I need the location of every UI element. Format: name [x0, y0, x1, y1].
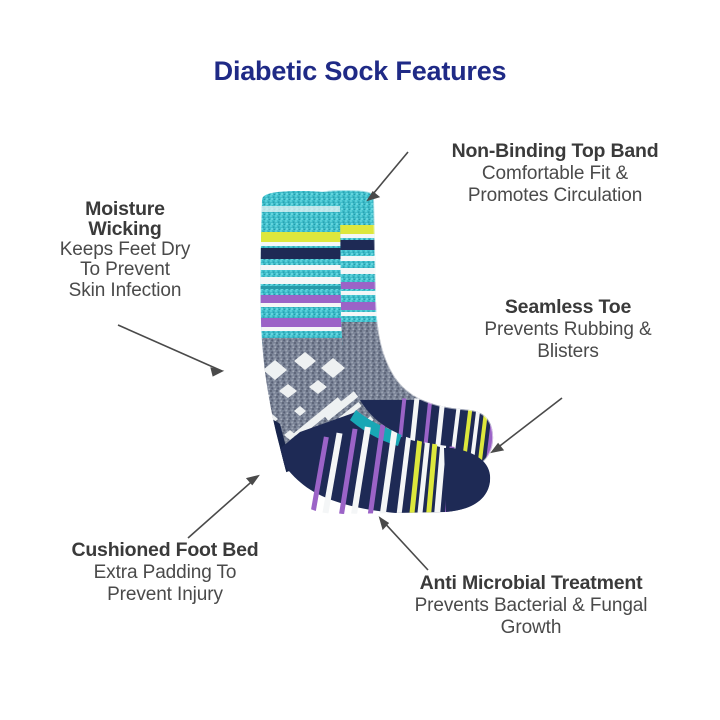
callout-line: Blisters	[444, 341, 692, 363]
arrow-head-antimicrobial	[380, 518, 388, 529]
arrow-head-moisture	[211, 368, 222, 375]
callout-line: Promotes Circulation	[412, 185, 698, 207]
callout-heading: Moisture	[14, 200, 236, 220]
callout-heading: Wicking	[14, 220, 236, 240]
arrow-line-moisture	[118, 325, 222, 371]
callout-line: Extra Padding To	[20, 562, 310, 584]
callout-moisture-wicking: Moisture Wicking Keeps Feet Dry To Preve…	[14, 200, 236, 301]
arrow-line-antimicrobial	[380, 518, 428, 570]
callout-line: Keeps Feet Dry	[14, 240, 236, 261]
callout-heading: Non-Binding Top Band	[412, 141, 698, 163]
callout-line: Growth	[372, 617, 690, 639]
callout-heading: Cushioned Foot Bed	[20, 540, 310, 562]
arrow-line-top-band	[368, 152, 408, 200]
arrow-head-cushion	[247, 476, 258, 484]
callout-line: Skin Infection	[14, 281, 236, 302]
illustration-canvas: Diabetic Sock Features	[0, 0, 720, 720]
arrow-line-seamless	[492, 398, 562, 452]
callout-line: Prevents Rubbing &	[444, 319, 692, 341]
callout-line: To Prevent	[14, 260, 236, 281]
callout-heading: Seamless Toe	[444, 297, 692, 319]
callout-cushioned-foot-bed: Cushioned Foot Bed Extra Padding To Prev…	[20, 540, 310, 606]
callout-seamless-toe: Seamless Toe Prevents Rubbing & Blisters	[444, 297, 692, 363]
callout-heading: Anti Microbial Treatment	[372, 573, 690, 595]
callout-line: Prevent Injury	[20, 584, 310, 606]
arrow-head-seamless	[492, 444, 503, 452]
callout-non-binding-top-band: Non-Binding Top Band Comfortable Fit & P…	[412, 141, 698, 207]
callout-line: Prevents Bacterial & Fungal	[372, 595, 690, 617]
arrow-line-cushion	[188, 476, 258, 538]
callout-line: Comfortable Fit &	[412, 163, 698, 185]
page-title: Diabetic Sock Features	[0, 56, 720, 87]
arrow-head-top-band	[368, 192, 379, 200]
callout-anti-microbial-treatment: Anti Microbial Treatment Prevents Bacter…	[372, 573, 690, 639]
